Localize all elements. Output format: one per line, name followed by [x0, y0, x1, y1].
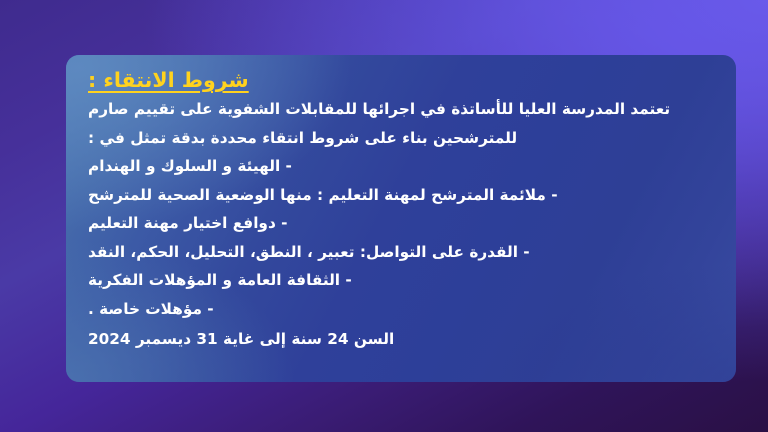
page-title: شروط الانتقاء :	[88, 68, 249, 92]
criteria-item-6: - مؤهلات خاصة .	[88, 295, 214, 324]
criteria-item-4: - القدرة على التواصل: تعبير ، النطق، الت…	[88, 238, 530, 267]
criteria-item-1: - الهيئة و السلوك و الهندام	[88, 152, 292, 181]
criteria-item-2: - ملائمة المترشح لمهنة التعليم : منها ال…	[88, 181, 558, 210]
intro-line-1: تعتمد المدرسة العليا للأساتذة في اجرائها…	[88, 95, 670, 124]
intro-line-2: للمترشحين بناء على شروط انتقاء محددة بدق…	[88, 124, 517, 153]
slide-canvas: شروط الانتقاء : تعتمد المدرسة العليا للأ…	[0, 0, 768, 432]
age-requirement-footer: السن 24 سنة إلى غاية 31 ديسمبر 2024	[88, 325, 394, 354]
criteria-item-5: - الثقافة العامة و المؤهلات الفكرية	[88, 266, 352, 295]
criteria-item-3: - دوافع اختيار مهنة التعليم	[88, 209, 287, 238]
card-inner: شروط الانتقاء : تعتمد المدرسة العليا للأ…	[66, 55, 736, 382]
content-card: شروط الانتقاء : تعتمد المدرسة العليا للأ…	[66, 55, 736, 382]
